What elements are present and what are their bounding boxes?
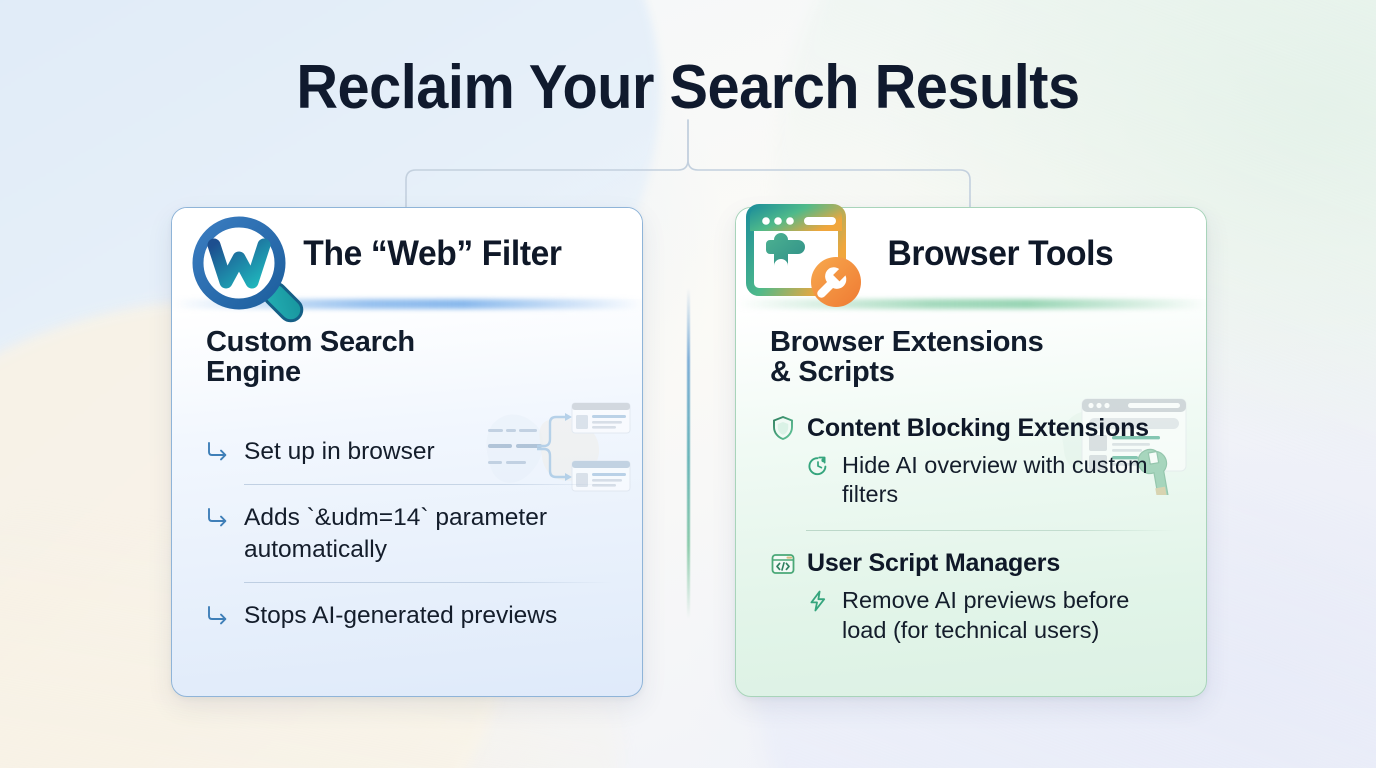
card-browser-tools-list: Content Blocking Extensions Hide AI over… <box>770 414 1176 645</box>
arrow-turn-down-right-icon <box>206 440 230 467</box>
list-subitem-label: Remove AI previews before load (for tech… <box>842 586 1176 645</box>
list-item-label: Set up in browser <box>244 436 435 467</box>
arrow-turn-down-right-icon <box>206 506 230 533</box>
code-window-icon <box>770 551 796 577</box>
pie-filter-icon <box>806 454 830 478</box>
card-web-filter-body-title: Custom Search Engine <box>206 327 506 388</box>
shield-icon <box>770 415 796 441</box>
card-browser-tools-body-title: Browser Extensions & Scripts <box>770 327 1070 388</box>
list-item-label: User Script Managers <box>807 549 1060 578</box>
list-subitem[interactable]: Remove AI previews before load (for tech… <box>770 586 1176 645</box>
list-item-label: Adds `&udm=14` parameter automatically <box>244 502 608 565</box>
page-title: Reclaim Your Search Results <box>48 52 1328 124</box>
list-divider <box>244 484 612 485</box>
browser-puzzle-wrench-icon <box>744 200 870 314</box>
card-separator-line <box>687 288 690 618</box>
list-item[interactable]: Content Blocking Extensions <box>770 414 1176 443</box>
card-browser-tools-body: Browser Extensions & Scripts Content Blo… <box>736 299 1206 645</box>
list-item-label: Content Blocking Extensions <box>807 414 1149 443</box>
list-divider <box>244 582 612 583</box>
list-item[interactable]: User Script Managers <box>770 549 1176 578</box>
card-web-filter-body: Custom Search Engine Set up in browser <box>172 299 642 631</box>
list-item[interactable]: Adds `&udm=14` parameter automatically <box>206 502 612 565</box>
card-browser-tools-title: Browser Tools <box>828 234 1113 274</box>
list-subitem-label: Hide AI overview with custom filters <box>842 451 1176 510</box>
list-subitem[interactable]: Hide AI overview with custom filters <box>770 451 1176 510</box>
arrow-turn-down-right-icon <box>206 604 230 631</box>
magnifier-w-icon <box>186 212 318 327</box>
list-divider <box>806 530 1176 531</box>
list-item[interactable]: Stops AI-generated previews <box>206 600 612 631</box>
infographic-canvas: Reclaim Your Search Results The “Web” Fi… <box>0 0 1376 768</box>
list-item[interactable]: Set up in browser <box>206 436 612 467</box>
lightning-bolt-icon <box>806 589 830 613</box>
list-item-label: Stops AI-generated previews <box>244 600 557 631</box>
card-web-filter-list: Set up in browser Adds `&udm=14` paramet… <box>206 436 612 631</box>
